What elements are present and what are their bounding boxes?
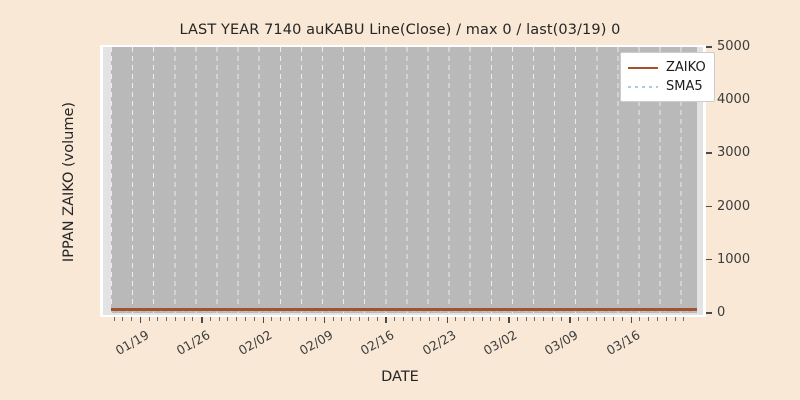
- y-tick-label: 4000: [717, 91, 750, 109]
- y-tick-label: 0: [717, 304, 725, 322]
- x-tick-label: 01/19: [102, 327, 151, 364]
- x-tick-minor: [192, 317, 193, 321]
- x-tick-minor: [377, 317, 378, 321]
- legend-swatch-sma5-icon: [628, 81, 658, 93]
- y-tick-mark: [706, 206, 712, 208]
- chart-figure: LAST YEAR 7140 auKABU Line(Close) / max …: [0, 0, 800, 400]
- x-tick-minor: [333, 317, 334, 321]
- x-axis: 01/1901/2602/0202/0902/1602/2303/0203/09…: [111, 317, 697, 377]
- x-tick-minor: [639, 317, 640, 321]
- y-tick-mark: [706, 46, 712, 48]
- y-tick-label: 1000: [717, 251, 750, 269]
- x-tick-minor: [499, 317, 500, 321]
- x-tick-label: 02/23: [409, 327, 458, 364]
- x-tick-minor: [149, 317, 150, 321]
- x-tick-mark: [569, 317, 571, 323]
- x-tick-mark: [263, 317, 265, 323]
- y-tick-label: 3000: [717, 144, 750, 162]
- x-tick-minor: [298, 317, 299, 321]
- legend-swatch-zaiko-icon: [628, 62, 658, 74]
- vertical-gridlines: [111, 47, 697, 313]
- x-tick-minor: [464, 317, 465, 321]
- y-axis-title: IPPAN ZAIKO (volume): [61, 67, 77, 297]
- x-tick-label: 02/16: [348, 327, 397, 364]
- y-tick-label: 2000: [717, 198, 750, 216]
- x-tick-mark: [140, 317, 142, 323]
- y-tick-mark: [706, 312, 712, 314]
- x-tick-minor: [412, 317, 413, 321]
- x-tick-minor: [254, 317, 255, 321]
- x-tick-minor: [368, 317, 369, 321]
- y-tick-mark: [706, 259, 712, 261]
- legend-label-sma5: SMA5: [666, 79, 703, 94]
- x-tick-minor: [245, 317, 246, 321]
- legend-item-sma5[interactable]: SMA5: [628, 77, 706, 96]
- x-tick-minor: [219, 317, 220, 321]
- x-tick-minor: [657, 317, 658, 321]
- x-tick-minor: [236, 317, 237, 321]
- chart-title: LAST YEAR 7140 auKABU Line(Close) / max …: [0, 22, 800, 38]
- x-tick-mark: [385, 317, 387, 323]
- x-tick-minor: [534, 317, 535, 321]
- x-tick-minor: [210, 317, 211, 321]
- legend: ZAIKO SMA5: [620, 52, 715, 102]
- x-tick-minor: [184, 317, 185, 321]
- x-tick-minor: [482, 317, 483, 321]
- x-tick-mark: [447, 317, 449, 323]
- y-axis: 500040003000200010000: [706, 45, 796, 317]
- x-tick-minor: [114, 317, 115, 321]
- x-axis-title: DATE: [0, 369, 800, 385]
- x-tick-minor: [604, 317, 605, 321]
- x-tick-minor: [596, 317, 597, 321]
- x-tick-minor: [315, 317, 316, 321]
- x-tick-minor: [455, 317, 456, 321]
- x-tick-label: 03/16: [593, 327, 642, 364]
- x-tick-minor: [683, 317, 684, 321]
- x-tick-minor: [289, 317, 290, 321]
- x-tick-label: 02/02: [225, 327, 274, 364]
- x-tick-minor: [429, 317, 430, 321]
- x-tick-minor: [578, 317, 579, 321]
- x-tick-minor: [271, 317, 272, 321]
- x-tick-mark: [631, 317, 633, 323]
- x-tick-minor: [280, 317, 281, 321]
- x-tick-minor: [350, 317, 351, 321]
- x-tick-label: 02/09: [286, 327, 335, 364]
- x-tick-minor: [561, 317, 562, 321]
- x-tick-minor: [175, 317, 176, 321]
- x-tick-minor: [122, 317, 123, 321]
- legend-item-zaiko[interactable]: ZAIKO: [628, 58, 706, 77]
- x-tick-minor: [473, 317, 474, 321]
- x-tick-minor: [359, 317, 360, 321]
- x-tick-minor: [552, 317, 553, 321]
- x-tick-minor: [131, 317, 132, 321]
- x-tick-minor: [517, 317, 518, 321]
- x-tick-minor: [526, 317, 527, 321]
- x-tick-minor: [587, 317, 588, 321]
- y-tick-mark: [706, 152, 712, 154]
- legend-label-zaiko: ZAIKO: [666, 60, 706, 75]
- x-tick-label: 01/26: [164, 327, 213, 364]
- x-tick-minor: [227, 317, 228, 321]
- x-tick-minor: [341, 317, 342, 321]
- x-tick-minor: [490, 317, 491, 321]
- x-tick-minor: [675, 317, 676, 321]
- x-tick-minor: [613, 317, 614, 321]
- x-tick-minor: [543, 317, 544, 321]
- series-line-zaiko: [111, 308, 697, 311]
- x-tick-minor: [157, 317, 158, 321]
- x-tick-label: 03/09: [532, 327, 581, 364]
- x-tick-label: 03/02: [470, 327, 519, 364]
- plot-area: [111, 47, 697, 313]
- x-tick-mark: [324, 317, 326, 323]
- x-tick-minor: [622, 317, 623, 321]
- x-tick-mark: [201, 317, 203, 323]
- x-tick-minor: [403, 317, 404, 321]
- x-tick-minor: [166, 317, 167, 321]
- x-tick-minor: [420, 317, 421, 321]
- x-tick-minor: [306, 317, 307, 321]
- x-tick-minor: [394, 317, 395, 321]
- x-tick-minor: [648, 317, 649, 321]
- x-tick-minor: [666, 317, 667, 321]
- y-tick-label: 5000: [717, 38, 750, 56]
- x-tick-minor: [438, 317, 439, 321]
- x-tick-mark: [508, 317, 510, 323]
